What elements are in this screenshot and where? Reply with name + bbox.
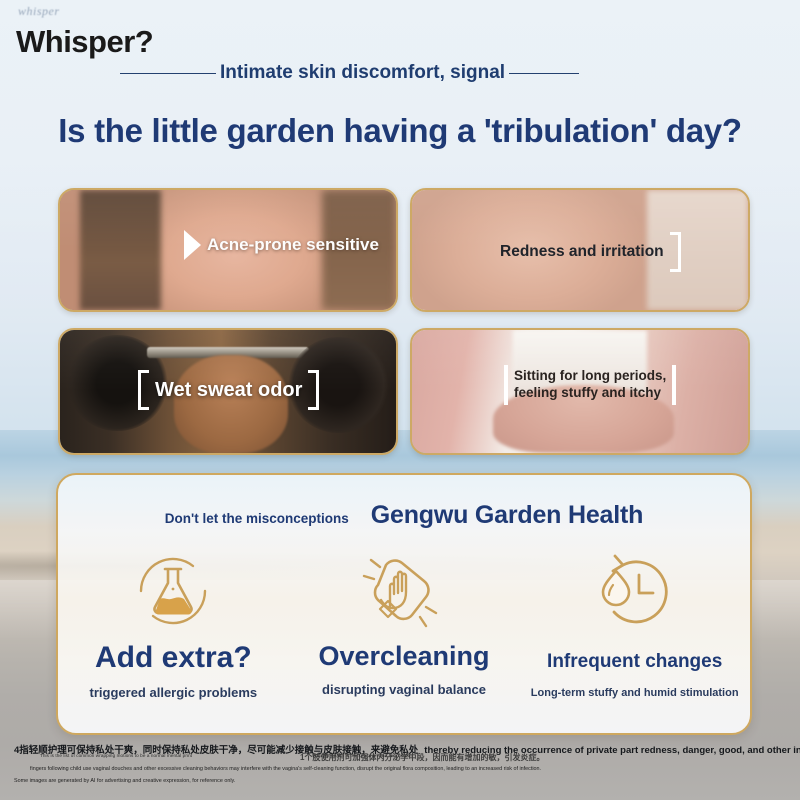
- bracket-right-icon: [670, 232, 681, 272]
- footer-line-4: Some images are generated by AI for adve…: [14, 778, 774, 784]
- card-label-sitting: Sitting for long periods, feeling stuffy…: [504, 365, 676, 405]
- misconception-caption: triggered allergic problems: [90, 685, 258, 700]
- panel-header: Don't let the misconceptions Gengwu Gard…: [58, 501, 750, 530]
- symptom-card-sitting[interactable]: Sitting for long periods, feeling stuffy…: [410, 328, 750, 455]
- misconception-caption: Long-term stuffy and humid stimulation: [531, 687, 739, 699]
- card-label-text-line1: Sitting for long periods,: [514, 368, 666, 385]
- card-label-redness: Redness and irritation: [500, 232, 681, 272]
- misconception-title: Add extra?: [95, 643, 252, 673]
- bracket-right-icon: [308, 370, 319, 410]
- footer-disclaimer: 4指轻顺护理可保持私处干爽，同时保持私处皮肤干净，尽可能减少接触与皮肤接触，来避…: [0, 738, 800, 800]
- panel-title: Gengwu Garden Health: [371, 501, 643, 530]
- symptom-card-sweat[interactable]: Wet sweat odor: [58, 328, 398, 455]
- footer-line-3: fingers following child use vaginal douc…: [30, 766, 790, 772]
- hand-wipe-cloth-icon: [358, 539, 450, 643]
- tagline-rule-right: [509, 73, 579, 74]
- bracket-left-icon: [504, 365, 508, 405]
- brand-name: Whisper?: [16, 24, 153, 60]
- misconception-caption: disrupting vaginal balance: [322, 682, 486, 697]
- misconceptions-panel: Don't let the misconceptions Gengwu Gard…: [56, 473, 752, 735]
- bracket-right-icon: [672, 365, 676, 405]
- tagline-row: Intimate skin discomfort, signal: [120, 58, 680, 88]
- misconception-item-overcleaning[interactable]: Overcleaning disrupting vaginal balance: [289, 539, 520, 700]
- card-label-sweat: Wet sweat odor: [138, 370, 319, 410]
- panel-subtitle: Don't let the misconceptions: [165, 511, 349, 526]
- card-label-acne: Acne-prone sensitive: [184, 230, 379, 260]
- misconception-columns: Add extra? triggered allergic problems O…: [58, 539, 750, 700]
- misconception-item-infrequent-changes[interactable]: Infrequent changes Long-term stuffy and …: [519, 539, 750, 700]
- misconception-title: Overcleaning: [318, 643, 489, 670]
- symptom-card-redness[interactable]: Redness and irritation: [410, 188, 750, 312]
- page-headline: Is the little garden having a 'tribulati…: [0, 112, 800, 150]
- card-label-text-line2: feeling stuffy and itchy: [514, 385, 666, 402]
- misconception-title: Infrequent changes: [547, 652, 722, 671]
- tagline-text: Intimate skin discomfort, signal: [216, 62, 509, 84]
- footer-microtext-left: This is the list of common wrapping moti…: [40, 753, 192, 758]
- bracket-left-icon: [138, 370, 149, 410]
- no-chemicals-flask-icon: [127, 539, 219, 643]
- play-triangle-icon: [184, 230, 201, 260]
- droplet-clock-refresh-icon: [589, 539, 681, 643]
- footer-cn-small: 1个肢使用剂可加强体内分泌学中段，因而能有增加的敏，引发炎症。: [300, 752, 544, 763]
- symptom-card-acne[interactable]: Acne-prone sensitive: [58, 188, 398, 312]
- card-label-text: Wet sweat odor: [155, 378, 302, 403]
- card-label-text: Redness and irritation: [500, 242, 664, 261]
- tagline-rule-left: [120, 73, 216, 74]
- card-label-text: Acne-prone sensitive: [207, 234, 379, 255]
- brand-watermark: whisper: [18, 4, 60, 19]
- misconception-item-add-extra[interactable]: Add extra? triggered allergic problems: [58, 539, 289, 700]
